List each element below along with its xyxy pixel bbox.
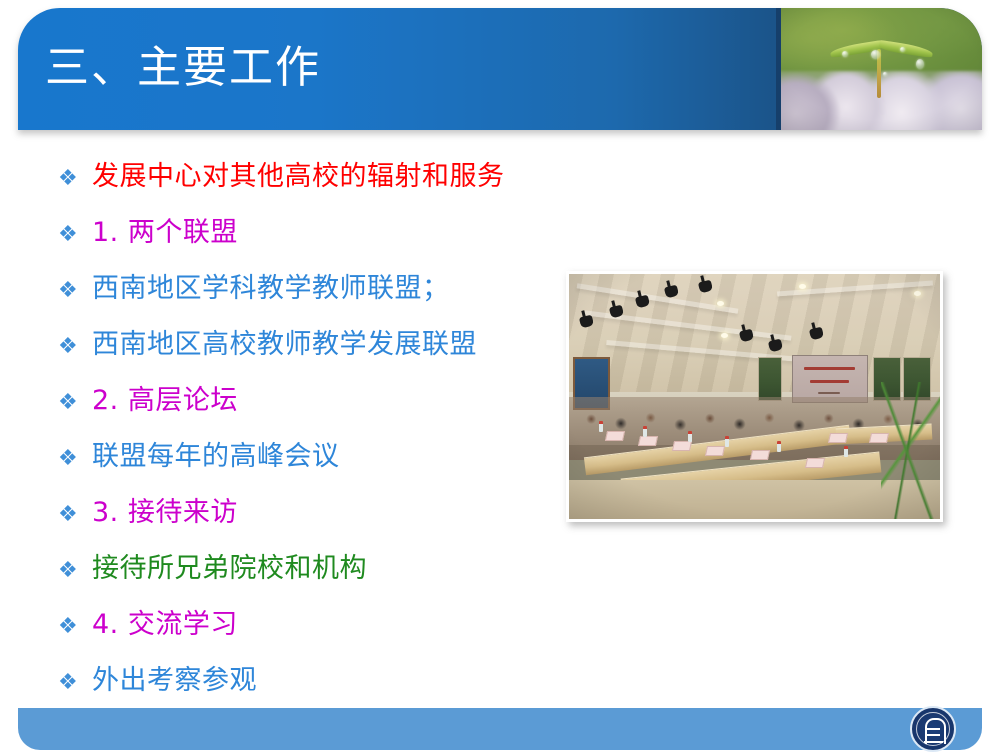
sprout-photo-left-edge	[776, 8, 781, 130]
green-sprout-with-dew-photo	[776, 8, 982, 130]
conference-photo-canvas	[569, 274, 940, 519]
list-item: ❖ 1. 两个联盟	[58, 216, 558, 272]
university-emblem	[910, 706, 956, 752]
diamond-bullet-icon: ❖	[58, 668, 92, 698]
list-item: ❖ 2. 高层论坛	[58, 384, 558, 440]
bullet-text: 2. 高层论坛	[92, 384, 558, 418]
diamond-bullet-icon: ❖	[58, 444, 92, 474]
page-title: 三、主要工作	[45, 38, 321, 98]
list-item: ❖ 西南地区学科教学教师联盟；	[58, 272, 558, 328]
bullet-text: 接待所兄弟院校和机构	[92, 552, 558, 586]
emblem-bar	[927, 728, 940, 730]
diamond-bullet-icon: ❖	[58, 276, 92, 306]
list-item: ❖ 4. 交流学习	[58, 608, 558, 664]
bullet-text: 1. 两个联盟	[92, 216, 558, 250]
photo-vignette	[569, 274, 940, 519]
bullet-text: 西南地区高校教师教学发展联盟	[92, 328, 558, 362]
list-item: ❖ 西南地区高校教师教学发展联盟	[58, 328, 558, 384]
diamond-bullet-icon: ❖	[58, 612, 92, 642]
list-item: ❖ 接待所兄弟院校和机构	[58, 552, 558, 608]
diamond-bullet-icon: ❖	[58, 388, 92, 418]
conference-audience-photo	[566, 271, 943, 522]
bullet-text: 发展中心对其他高校的辐射和服务	[92, 160, 558, 194]
list-item: ❖ 联盟每年的高峰会议	[58, 440, 558, 496]
list-item: ❖ 发展中心对其他高校的辐射和服务	[58, 160, 558, 216]
diamond-bullet-icon: ❖	[58, 500, 92, 530]
diamond-bullet-icon: ❖	[58, 556, 92, 586]
emblem-bar	[927, 734, 940, 736]
diamond-bullet-icon: ❖	[58, 332, 92, 362]
footer-bar	[18, 708, 982, 750]
diamond-bullet-icon: ❖	[58, 164, 92, 194]
bullet-text: 西南地区学科教学教师联盟；	[92, 272, 558, 306]
diamond-bullet-icon: ❖	[58, 220, 92, 250]
list-item: ❖ 3. 接待来访	[58, 496, 558, 552]
sprout-photo-vignette	[776, 8, 982, 130]
header-banner: 三、主要工作	[18, 8, 982, 130]
bullet-list: ❖ 发展中心对其他高校的辐射和服务 ❖ 1. 两个联盟 ❖ 西南地区学科教学教师…	[58, 160, 558, 720]
bullet-text: 联盟每年的高峰会议	[92, 440, 558, 474]
emblem-bar	[924, 741, 943, 743]
bullet-text: 3. 接待来访	[92, 496, 558, 530]
bullet-text: 4. 交流学习	[92, 608, 558, 642]
bullet-text: 外出考察参观	[92, 664, 558, 698]
